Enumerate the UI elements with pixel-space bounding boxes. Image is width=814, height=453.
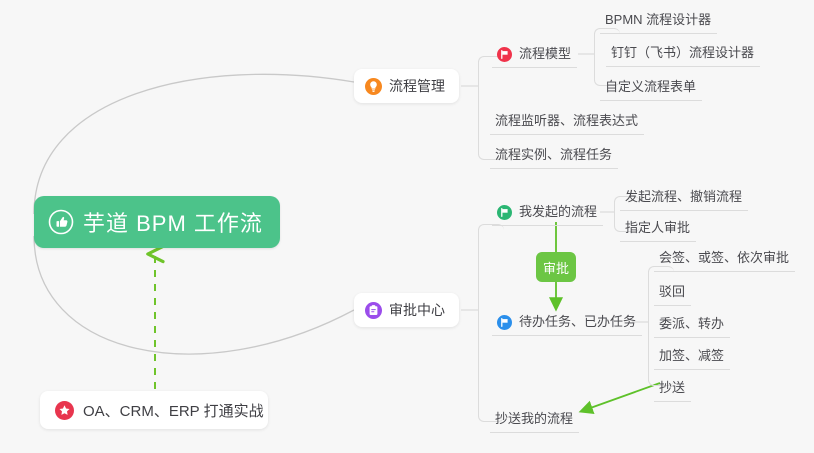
- root-node[interactable]: 芋道 BPM 工作流: [34, 196, 280, 248]
- node-process-instance[interactable]: 流程实例、流程任务: [490, 146, 618, 169]
- node-reject[interactable]: 驳回: [654, 283, 691, 306]
- thumbs-up-icon: [48, 209, 74, 235]
- clipboard-icon: [365, 302, 382, 319]
- flag-icon: [497, 205, 512, 220]
- node-add-remove-sign[interactable]: 加签、减签: [654, 347, 730, 370]
- node-start-cancel-process[interactable]: 发起流程、撤销流程: [620, 188, 748, 211]
- node-assignee-approval[interactable]: 指定人审批: [620, 219, 696, 242]
- node-my-started-processes[interactable]: 我发起的流程: [492, 203, 603, 226]
- annotation-label: 审批: [543, 258, 569, 277]
- mindmap-canvas: 芋道 BPM 工作流 流程管理 流程模型 BPMN 流程设计器 钉钉（飞书）流程…: [0, 0, 814, 453]
- branch-label: 流程管理: [389, 76, 445, 96]
- node-bpmn-designer[interactable]: BPMN 流程设计器: [600, 11, 717, 34]
- node-delegate-transfer[interactable]: 委派、转办: [654, 315, 730, 338]
- bracket-process-management: [478, 56, 504, 160]
- branch-label: 审批中心: [389, 300, 445, 320]
- lightbulb-icon: [365, 78, 382, 95]
- arrow-cc-to-my-cc: [582, 383, 660, 411]
- edge-root-to-process-management: [34, 74, 354, 214]
- node-todo-done-tasks[interactable]: 待办任务、已办任务: [492, 313, 642, 336]
- flag-icon: [497, 315, 512, 330]
- edge-root-to-approval-center: [34, 236, 354, 354]
- node-countersign[interactable]: 会签、或签、依次审批: [654, 249, 795, 272]
- node-label: 我发起的流程: [519, 203, 597, 221]
- annotation-chip-approve: 审批: [536, 252, 576, 282]
- branch-process-management[interactable]: 流程管理: [354, 69, 459, 103]
- footer-card-label: OA、CRM、ERP 打通实战: [83, 400, 264, 421]
- branch-approval-center[interactable]: 审批中心: [354, 293, 459, 327]
- node-cc[interactable]: 抄送: [654, 379, 691, 402]
- node-process-model[interactable]: 流程模型: [492, 45, 577, 68]
- node-cc-to-me[interactable]: 抄送我的流程: [490, 410, 579, 433]
- node-dingtalk-designer[interactable]: 钉钉（飞书）流程设计器: [606, 44, 760, 67]
- node-process-listener[interactable]: 流程监听器、流程表达式: [490, 112, 644, 135]
- root-label: 芋道 BPM 工作流: [83, 206, 263, 238]
- node-label: 流程模型: [519, 45, 571, 63]
- node-label: 待办任务、已办任务: [519, 313, 636, 331]
- flag-icon: [497, 47, 512, 62]
- star-icon: [55, 401, 74, 420]
- footer-card-integration[interactable]: OA、CRM、ERP 打通实战: [40, 391, 268, 429]
- node-custom-form[interactable]: 自定义流程表单: [600, 78, 702, 101]
